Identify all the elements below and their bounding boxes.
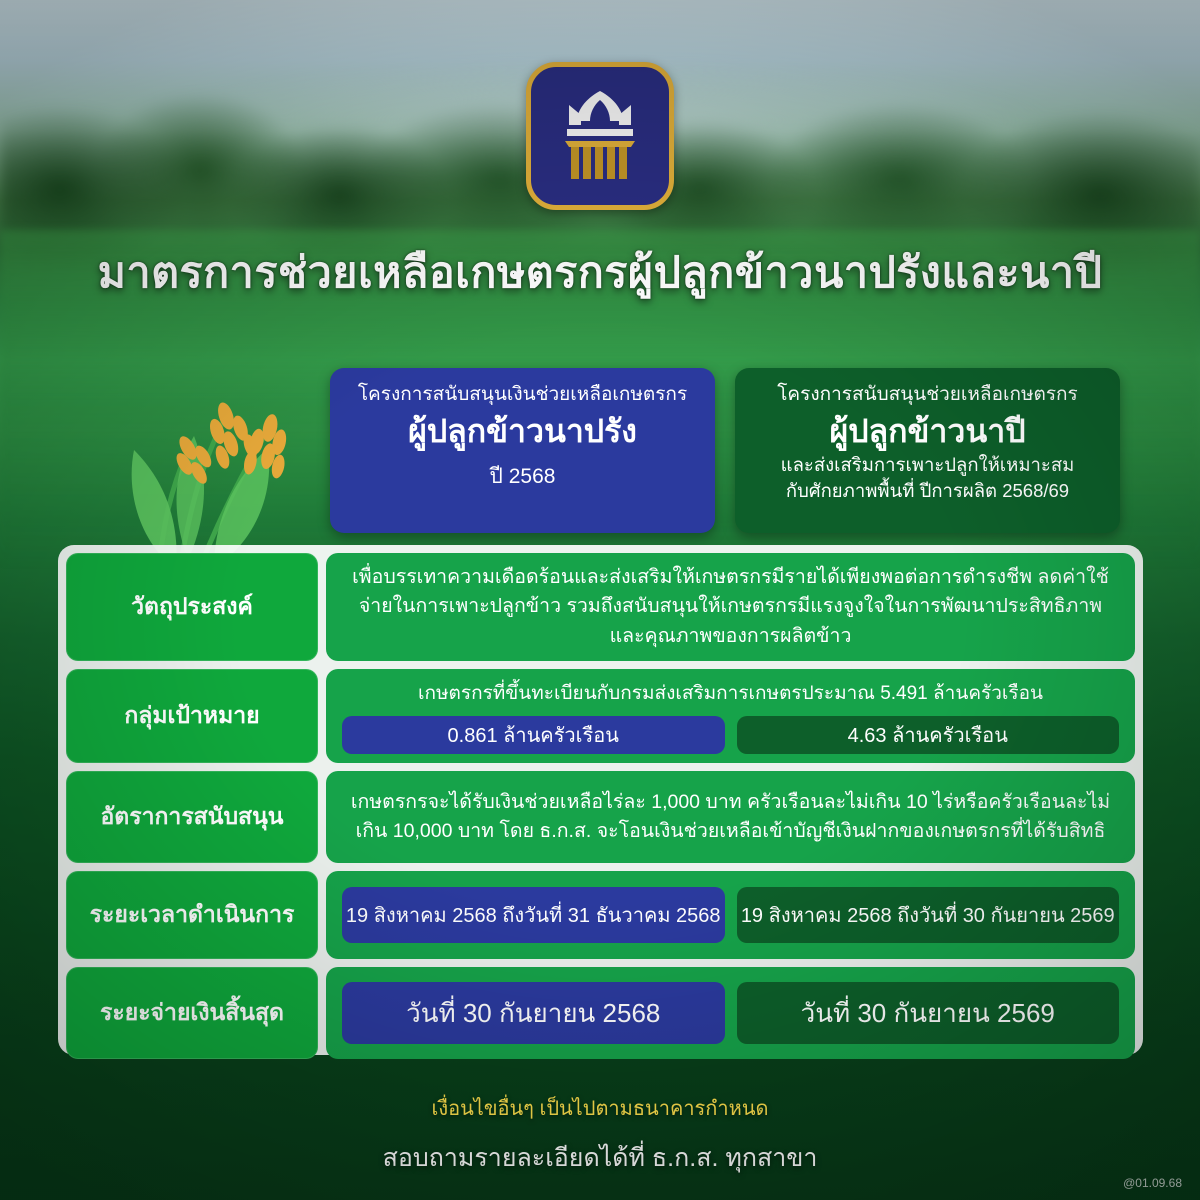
program-title: ผู้ปลูกข้าวนาปรัง (346, 412, 699, 450)
rice-stalk-illustration (118, 320, 358, 580)
period-value-napee: 19 สิงหาคม 2568 ถึงวันที่ 30 กันยายน 256… (737, 887, 1120, 943)
deadline-value-napee: วันที่ 30 กันยายน 2569 (737, 982, 1120, 1044)
poster-root: มาตรการช่วยเหลือเกษตรกรผู้ปลูกข้าวนาปรัง… (0, 0, 1200, 1200)
program-note: และส่งเสริมการเพาะปลูกให้เหมาะสม กับศักย… (751, 452, 1104, 504)
target-value-napee: 4.63 ล้านครัวเรือน (737, 716, 1120, 754)
footer-contact: สอบถามรายละเอียดได้ที่ ธ.ก.ส. ทุกสาขา (0, 1138, 1200, 1178)
footer-conditions: เงื่อนไขอื่นๆ เป็นไปตามธนาคารกำหนด (0, 1092, 1200, 1124)
date-stamp: @01.09.68 (1123, 1176, 1182, 1190)
row-label-objective: วัตถุประสงค์ (66, 553, 318, 661)
row-label-rate: อัตราการสนับสนุน (66, 771, 318, 863)
logo-container (526, 62, 674, 210)
measures-table: วัตถุประสงค์ เพื่อบรรเทาความเดือดร้อนและ… (58, 545, 1143, 1055)
deadline-value-naprang: วันที่ 30 กันยายน 2568 (342, 982, 725, 1044)
row-value-rate: เกษตรกรจะได้รับเงินช่วยเหลือไร่ละ 1,000 … (326, 771, 1135, 863)
program-card-naprang: โครงการสนับสนุนเงินช่วยเหลือเกษตรกร ผู้ป… (330, 368, 715, 533)
target-note: เกษตรกรที่ขึ้นทะเบียนกับกรมส่งเสริมการเก… (342, 678, 1119, 708)
program-subtitle: โครงการสนับสนุนเงินช่วยเหลือเกษตรกร (346, 382, 699, 408)
row-value-period: 19 สิงหาคม 2568 ถึงวันที่ 31 ธันวาคม 256… (326, 871, 1135, 959)
table-row: ระยะเวลาดำเนินการ 19 สิงหาคม 2568 ถึงวัน… (66, 871, 1135, 959)
program-year: ปี 2568 (346, 460, 699, 493)
program-card-napee: โครงการสนับสนุนช่วยเหลือเกษตรกร ผู้ปลูกข… (735, 368, 1120, 533)
program-cards: โครงการสนับสนุนเงินช่วยเหลือเกษตรกร ผู้ป… (330, 368, 1140, 533)
table-row: วัตถุประสงค์ เพื่อบรรเทาความเดือดร้อนและ… (66, 553, 1135, 661)
row-label-period: ระยะเวลาดำเนินการ (66, 871, 318, 959)
row-value-target: เกษตรกรที่ขึ้นทะเบียนกับกรมส่งเสริมการเก… (326, 669, 1135, 763)
table-row: ระยะจ่ายเงินสิ้นสุด วันที่ 30 กันยายน 25… (66, 967, 1135, 1059)
program-title: ผู้ปลูกข้าวนาปี (751, 412, 1104, 450)
footer: เงื่อนไขอื่นๆ เป็นไปตามธนาคารกำหนด สอบถา… (0, 1092, 1200, 1178)
row-label-target: กลุ่มเป้าหมาย (66, 669, 318, 763)
table-row: อัตราการสนับสนุน เกษตรกรจะได้รับเงินช่วย… (66, 771, 1135, 863)
row-value-objective: เพื่อบรรเทาความเดือดร้อนและส่งเสริมให้เก… (326, 553, 1135, 661)
target-chips: 0.861 ล้านครัวเรือน 4.63 ล้านครัวเรือน (342, 716, 1119, 754)
baac-bank-logo-icon (526, 62, 674, 210)
page-title: มาตรการช่วยเหลือเกษตรกรผู้ปลูกข้าวนาปรัง… (0, 248, 1200, 300)
period-value-naprang: 19 สิงหาคม 2568 ถึงวันที่ 31 ธันวาคม 256… (342, 887, 725, 943)
table-row: กลุ่มเป้าหมาย เกษตรกรที่ขึ้นทะเบียนกับกร… (66, 669, 1135, 763)
row-label-deadline: ระยะจ่ายเงินสิ้นสุด (66, 967, 318, 1059)
period-chips: 19 สิงหาคม 2568 ถึงวันที่ 31 ธันวาคม 256… (342, 887, 1119, 943)
target-value-naprang: 0.861 ล้านครัวเรือน (342, 716, 725, 754)
program-subtitle: โครงการสนับสนุนช่วยเหลือเกษตรกร (751, 382, 1104, 408)
row-value-deadline: วันที่ 30 กันยายน 2568 วันที่ 30 กันยายน… (326, 967, 1135, 1059)
deadline-chips: วันที่ 30 กันยายน 2568 วันที่ 30 กันยายน… (342, 982, 1119, 1044)
